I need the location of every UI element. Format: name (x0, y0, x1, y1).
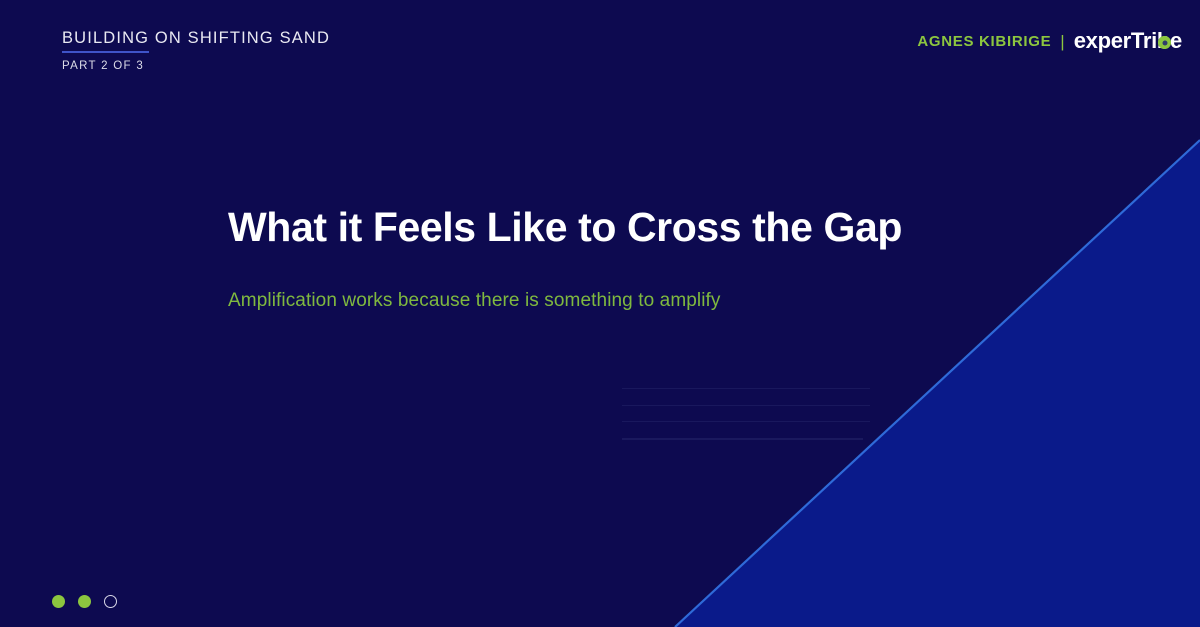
slide-body: What it Feels Like to Cross the Gap Ampl… (228, 205, 988, 314)
ghost-line (622, 388, 870, 389)
series-title-remainder: ON SHIFTING SAND (149, 29, 330, 47)
ghost-line (622, 421, 870, 422)
pagination-dots[interactable] (52, 595, 117, 608)
pagination-dot-2[interactable] (78, 595, 91, 608)
page-title: What it Feels Like to Cross the Gap (228, 205, 988, 251)
ghost-line (622, 405, 870, 406)
series-identifier: BUILDING ON SHIFTING SAND PART 2 OF 3 (62, 30, 330, 72)
brand-wordmark: experTribe (1074, 30, 1182, 52)
green-dot-icon (1158, 36, 1171, 49)
ghost-line (622, 438, 863, 440)
slide-canvas: BUILDING ON SHIFTING SAND PART 2 OF 3 AG… (0, 0, 1200, 627)
author-name: AGNES KIBIRIGE (917, 34, 1051, 49)
series-title-accent-word: BUILDING (62, 29, 149, 53)
brand-lockup: AGNES KIBIRIGE | experTribe (917, 30, 1182, 52)
brand-separator: | (1060, 33, 1064, 50)
pagination-dot-1[interactable] (52, 595, 65, 608)
series-part-label: PART 2 OF 3 (62, 61, 330, 73)
slide-header: BUILDING ON SHIFTING SAND PART 2 OF 3 AG… (0, 0, 1200, 90)
faint-ghost-text-block (622, 388, 870, 440)
pagination-dot-3[interactable] (104, 595, 117, 608)
series-title: BUILDING ON SHIFTING SAND (62, 30, 330, 47)
page-subtitle: Amplification works because there is som… (228, 251, 988, 314)
